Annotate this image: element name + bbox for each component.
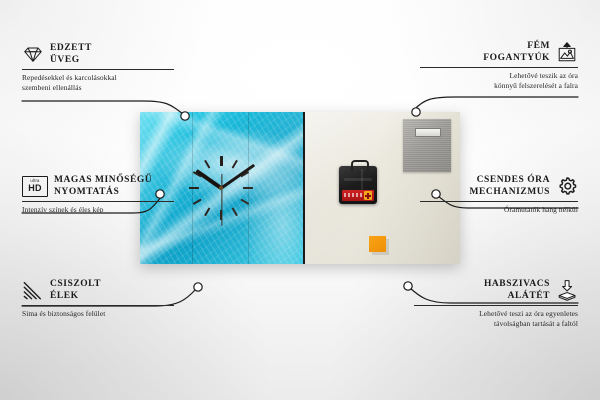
gear-icon bbox=[556, 175, 578, 197]
callout-description: Lehetővé teszik az óra könnyű felszerelé… bbox=[420, 71, 578, 91]
callout-description: Sima és biztonságos felület bbox=[22, 309, 174, 319]
callout-title: CSISZOLT ÉLEK bbox=[50, 278, 101, 302]
connector-metal-handles bbox=[414, 97, 578, 110]
product-image bbox=[140, 112, 460, 264]
callout-divider bbox=[420, 67, 578, 68]
callout-divider bbox=[414, 305, 578, 306]
ultra-hd-badge-icon: ultra HD bbox=[22, 176, 48, 197]
callout-title: EDZETT ÜVEG bbox=[50, 42, 92, 66]
callout-divider bbox=[22, 69, 174, 70]
callout-description: Óramutatók hang nélkül bbox=[420, 205, 578, 215]
diagonal-lines-icon bbox=[22, 279, 44, 301]
callout-divider bbox=[22, 305, 174, 306]
callout-high-quality-print[interactable]: ultra HD MAGAS MINŐSÉGŰ NYOMTATÁS Intenz… bbox=[22, 174, 174, 215]
callout-title: FÉM FOGANTYÚK bbox=[483, 40, 550, 64]
connector-endpoint-polished-edges bbox=[194, 283, 202, 291]
callout-tempered-glass[interactable]: EDZETT ÜVEG Repedésekkel és karcolásokka… bbox=[22, 42, 174, 93]
callout-header: ultra HD MAGAS MINŐSÉGŰ NYOMTATÁS bbox=[22, 174, 174, 198]
mechanism-slot bbox=[344, 178, 372, 181]
mechanism-rib bbox=[361, 169, 363, 190]
callout-description: Repedésekkel és karcolásokkal szembeni e… bbox=[22, 73, 174, 93]
badge-large-label: HD bbox=[28, 184, 41, 193]
mechanism-hanger-loop bbox=[351, 160, 369, 171]
metal-hanger-plate bbox=[403, 119, 451, 172]
hanger-slot bbox=[415, 128, 441, 137]
battery bbox=[342, 190, 374, 201]
callout-title: MAGAS MINŐSÉGŰ NYOMTATÁS bbox=[54, 174, 152, 198]
callout-header: EDZETT ÜVEG bbox=[22, 42, 174, 66]
callout-header: CSISZOLT ÉLEK bbox=[22, 278, 174, 302]
clock-second-hand bbox=[221, 174, 222, 226]
foam-pad-arrow-icon bbox=[556, 279, 578, 301]
callout-polished-edges[interactable]: CSISZOLT ÉLEK Sima és biztonságos felüle… bbox=[22, 278, 174, 319]
battery-plus-terminal bbox=[364, 191, 372, 200]
callout-description: Lehetővé teszi az óra egyenletes távolsá… bbox=[414, 309, 578, 329]
callout-foam-pad[interactable]: HABSZIVACS ALÁTÉT Lehetővé teszi az óra … bbox=[414, 278, 578, 329]
foam-pad-sample bbox=[369, 236, 386, 252]
callout-divider bbox=[22, 201, 174, 202]
callout-title: HABSZIVACS ALÁTÉT bbox=[484, 278, 550, 302]
callout-silent-mechanism[interactable]: CSENDES ÓRA MECHANIZMUS Óramutatók hang … bbox=[420, 174, 578, 215]
diamond-icon bbox=[22, 43, 44, 65]
battery-label bbox=[344, 193, 362, 197]
callout-title: CSENDES ÓRA MECHANIZMUS bbox=[470, 174, 550, 198]
callout-header: CSENDES ÓRA MECHANIZMUS bbox=[420, 174, 578, 198]
callout-description: Intenzív színek és éles kép bbox=[22, 205, 174, 215]
clock-mechanism bbox=[339, 166, 377, 204]
infographic-stage: EDZETT ÜVEG Repedésekkel és karcolásokka… bbox=[0, 0, 600, 400]
hanging-frame-icon bbox=[556, 41, 578, 63]
callout-header: HABSZIVACS ALÁTÉT bbox=[414, 278, 578, 302]
callout-divider bbox=[420, 201, 578, 202]
callout-header: FÉM FOGANTYÚK bbox=[420, 40, 578, 64]
connector-endpoint-foam-pad bbox=[404, 282, 412, 290]
callout-metal-handles[interactable]: FÉM FOGANTYÚK Lehetővé teszik az óra kön… bbox=[420, 40, 578, 91]
